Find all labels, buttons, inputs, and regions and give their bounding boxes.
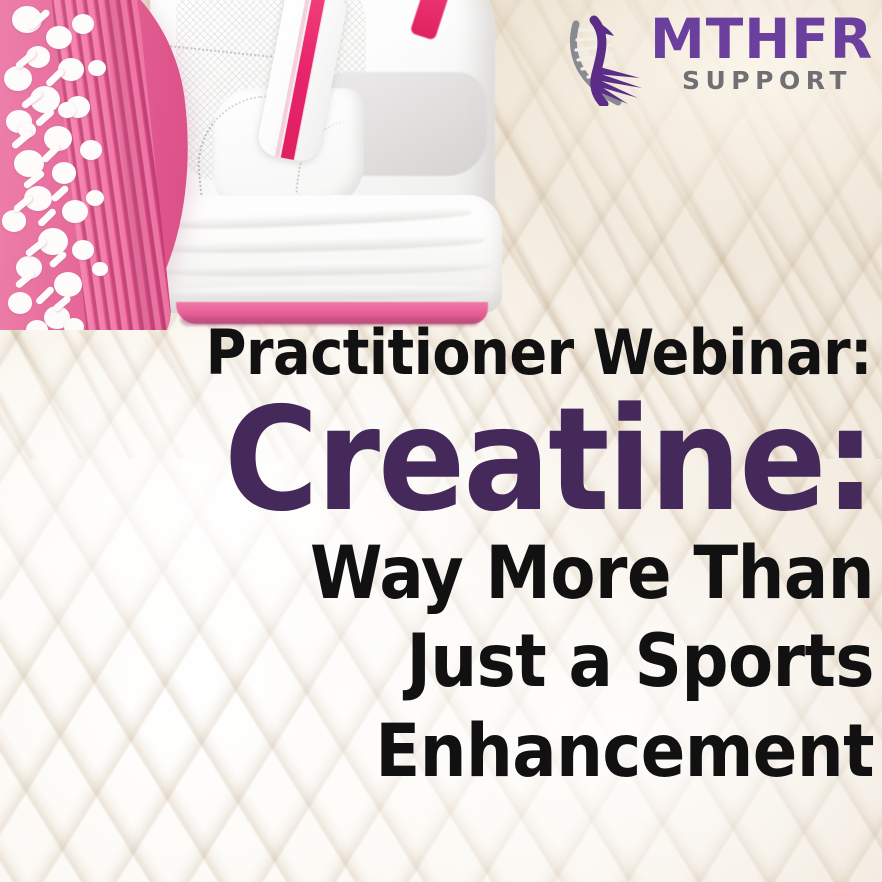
sneaker-tread-nub	[72, 240, 94, 260]
sneaker-photo	[0, 0, 510, 330]
logo-tagline: SUPPORT	[682, 68, 864, 93]
mthfr-support-logo[interactable]: MTHFR SUPPORT	[562, 8, 864, 112]
sneaker-tread-nub	[54, 272, 82, 297]
subtitle-line-2: Just a Sports	[2, 617, 874, 707]
dna-helix-icon	[566, 14, 656, 106]
sneaker-tread-nub	[4, 66, 32, 91]
sneaker-tread-nub	[2, 210, 26, 232]
sneaker-tread-nub	[72, 14, 94, 34]
sneaker-tread-nub	[8, 292, 32, 314]
sneaker-tread-nub	[52, 162, 76, 184]
page-title: Creatine:	[2, 390, 874, 530]
promo-graphic-canvas: MTHFR SUPPORT Practitioner Webinar: Crea…	[0, 0, 882, 882]
subtitle-line-1: Way More Than	[2, 530, 874, 617]
hero-title-block: Practitioner Webinar: Creatine: Way More…	[2, 318, 874, 797]
logo-wordmark: MTHFR	[650, 12, 864, 67]
sneaker-tread-nub	[80, 140, 102, 160]
subtitle-line-3: Enhancement	[2, 707, 874, 797]
